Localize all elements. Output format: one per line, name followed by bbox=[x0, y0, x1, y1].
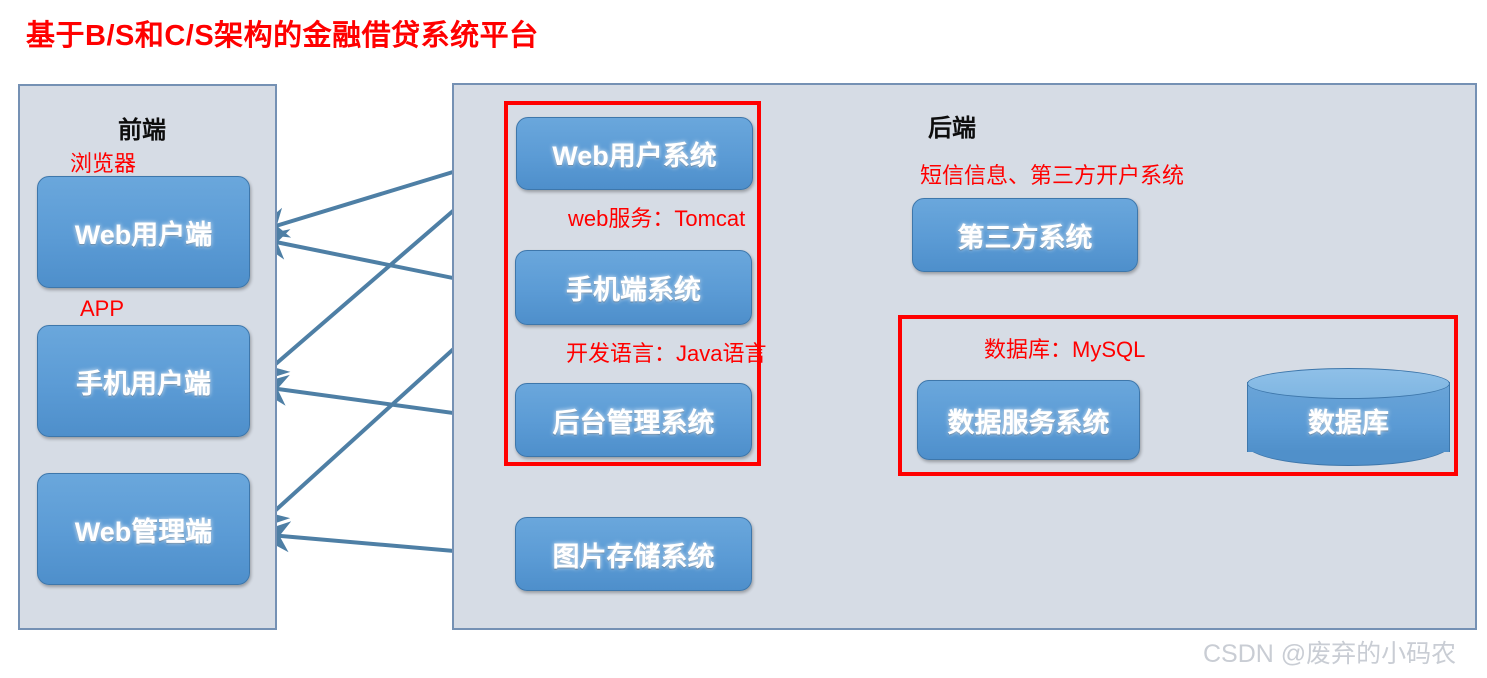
frontend-panel-title: 前端 bbox=[118, 110, 166, 145]
annotation-app: APP bbox=[80, 296, 124, 322]
node-web-client[interactable]: Web用户端 bbox=[37, 176, 250, 288]
node-web-admin-client[interactable]: Web管理端 bbox=[37, 473, 250, 585]
node-mobile-client[interactable]: 手机用户端 bbox=[37, 325, 250, 437]
backend-panel-title: 后端 bbox=[928, 108, 976, 143]
annotation-sms-third-party: 短信信息、第三方开户系统 bbox=[920, 158, 1184, 190]
annotation-browser: 浏览器 bbox=[70, 146, 136, 178]
node-third-party-system[interactable]: 第三方系统 bbox=[912, 198, 1138, 272]
node-image-storage-system[interactable]: 图片存储系统 bbox=[515, 517, 752, 591]
watermark: CSDN @废弃的小码农 bbox=[1203, 634, 1456, 670]
highlight-box-database-layer bbox=[898, 315, 1458, 476]
highlight-box-application-layer bbox=[504, 101, 761, 466]
